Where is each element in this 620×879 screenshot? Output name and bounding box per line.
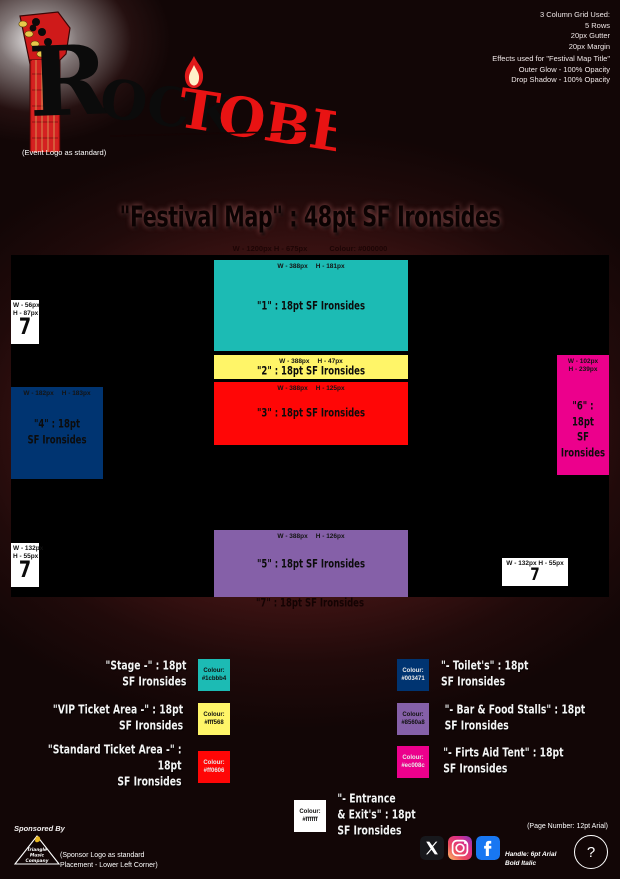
map-dimensions-note: W - 1200px H - 675px Colour: #000000: [0, 244, 620, 253]
legend-toilets[interactable]: Colour: #003471 "- Toilet's" : 18pt SF I…: [397, 659, 534, 691]
legend-toilets-swatch: Colour: #003471: [397, 659, 429, 691]
legend-first-aid-tent[interactable]: Colour: #ec008c "- Firts Aid Tent" : 18p…: [397, 746, 572, 778]
legend-vip-swatch: Colour: #fff568: [198, 703, 230, 735]
swatch-prefix: Colour:: [402, 754, 423, 762]
block-7-outside-label: "7" : 18pt SF Ironsides: [47, 597, 574, 610]
block-5-dims: W - 388pxH - 126px: [214, 533, 408, 540]
grid-note-line: 20px Margin: [540, 42, 610, 53]
map-dims-colour: Colour: #000000: [329, 244, 387, 253]
svg-text:Triangle: Triangle: [27, 847, 47, 853]
legend-bar-food-stalls[interactable]: Colour: #8560a8 "- Bar & Food Stalls" : …: [397, 703, 595, 735]
block-3-dim-w: W - 388px: [277, 385, 307, 392]
entrance-box-bottom-right[interactable]: W - 132px H - 55px 7: [502, 558, 568, 586]
entrance-dim-w: W - 56px: [13, 302, 37, 310]
grid-note-line: 20px Gutter: [540, 31, 610, 42]
block-1-dim-w: W - 388px: [277, 263, 307, 270]
block-5-dim-h: H - 126px: [316, 533, 345, 540]
legend-stage[interactable]: "Stage -" : 18pt SF Ironsides Colour: #1…: [18, 659, 230, 691]
legend-first-aid-swatch: Colour: #ec008c: [397, 746, 429, 778]
swatch-hex: #ffffff: [302, 816, 317, 824]
swatch-hex: #1cbbb4: [202, 675, 226, 683]
block-3-label: "3" : 18pt SF Ironsides: [229, 406, 394, 422]
legend-entrance-swatch: Colour: #ffffff: [294, 800, 326, 832]
sponsored-by-label: Sponsored By: [14, 824, 65, 833]
block-6-dim-h: H - 239px: [557, 366, 609, 374]
effect-note-line: Effects used for "Festival Map Title": [492, 54, 610, 65]
facebook-icon[interactable]: [476, 836, 500, 860]
block-1-label: "1" : 18pt SF Ironsides: [229, 299, 394, 315]
x-icon[interactable]: [420, 836, 444, 860]
block-1-dims: W - 388pxH - 181px: [214, 263, 408, 270]
svg-text:TOBER: TOBER: [174, 76, 336, 153]
block-4-toilets[interactable]: W - 182pxH - 183px "4" : 18pt SF Ironsid…: [11, 387, 103, 479]
block-4-label: "4" : 18pt SF Ironsides: [18, 417, 96, 448]
swatch-prefix: Colour:: [203, 667, 224, 675]
block-3-dim-h: H - 125px: [316, 385, 345, 392]
entrance-glyph: 7: [14, 558, 36, 583]
legend-entrance-label: "- Entrance & Exit's" : 18pt SF Ironside…: [337, 792, 415, 839]
effect-note-line: Outer Glow - 100% Opacity: [492, 65, 610, 76]
instagram-icon[interactable]: [448, 836, 472, 860]
map-dims-size: W - 1200px H - 675px: [233, 244, 308, 253]
legend-stage-swatch: Colour: #1cbbb4: [198, 659, 230, 691]
block-3-standard[interactable]: W - 388pxH - 125px "3" : 18pt SF Ironsid…: [214, 382, 408, 445]
triangle-music-company-icon: Triangle Music Company: [12, 833, 62, 869]
block-5-dim-w: W - 388px: [277, 533, 307, 540]
block-2-label: "2" : 18pt SF Ironsides: [229, 364, 394, 380]
legend-toilets-label: "- Toilet's" : 18pt SF Ironsides: [441, 659, 528, 691]
svg-text:Company: Company: [26, 858, 50, 864]
swatch-hex: #003471: [401, 675, 424, 683]
legend-first-aid-label: "- Firts Aid Tent" : 18pt SF Ironsides: [443, 746, 563, 778]
legend-entrance-exits[interactable]: Colour: #ffffff "- Entrance & Exit's" : …: [294, 795, 421, 837]
handle-note: Handle: 6pt Arial Bold Italic: [505, 850, 556, 869]
page-number-badge[interactable]: ?: [574, 835, 608, 869]
legend-stage-label: "Stage -" : 18pt SF Ironsides: [106, 659, 187, 691]
legend-standard-swatch: Colour: #ff0606: [198, 751, 230, 783]
swatch-hex: #ff0606: [204, 767, 225, 775]
swatch-prefix: Colour:: [203, 711, 224, 719]
legend-bar-food-swatch: Colour: #8560a8: [397, 703, 429, 735]
swatch-hex: #fff568: [204, 719, 223, 727]
block-5-bar-food[interactable]: W - 388pxH - 126px "5" : 18pt SF Ironsid…: [214, 530, 408, 597]
entrance-dim-w: W - 132px: [13, 545, 37, 553]
legend-standard-ticket-area[interactable]: "Standard Ticket Area -" : 18pt SF Irons…: [18, 746, 230, 788]
entrance-box-bottom-left[interactable]: W - 132px H - 55px 7: [11, 543, 39, 587]
swatch-hex: #ec008c: [401, 762, 424, 770]
block-5-label: "5" : 18pt SF Ironsides: [229, 557, 394, 573]
block-6-dim-w: W - 102px: [557, 358, 609, 366]
legend-bar-food-label: "- Bar & Food Stalls" : 18pt SF Ironside…: [445, 703, 586, 735]
swatch-hex: #8560a8: [401, 719, 424, 727]
swatch-prefix: Colour:: [203, 759, 224, 767]
block-1-dim-h: H - 181px: [316, 263, 345, 270]
sponsor-placement-note: (Sponsor Logo as standard Placement - Lo…: [60, 851, 158, 871]
block-4-dim-w: W - 182px: [23, 390, 53, 397]
logo-caption: (Event Logo as standard): [22, 148, 106, 157]
grid-notes: 3 Column Grid Used: 5 Rows 20px Gutter 2…: [540, 10, 610, 53]
block-4-dim-h: H - 183px: [62, 390, 91, 397]
swatch-prefix: Colour:: [299, 808, 320, 816]
flame-icon: [185, 56, 203, 88]
block-4-dims: W - 182pxH - 183px: [11, 390, 103, 397]
festival-map-canvas: W - 388pxH - 181px "1" : 18pt SF Ironsid…: [11, 255, 609, 597]
entrance-glyph: 7: [509, 565, 562, 585]
rocktober-logo-graphic: R OCK TOBER: [6, 8, 336, 153]
sponsor-logo: Triangle Music Company: [12, 833, 62, 874]
swatch-prefix: Colour:: [402, 667, 423, 675]
legend-vip-label: "VIP Ticket Area -" : 18pt SF Ironsides: [53, 703, 183, 735]
legend-vip-ticket-area[interactable]: "VIP Ticket Area -" : 18pt SF Ironsides …: [18, 703, 230, 735]
block-6-dims: W - 102px H - 239px: [557, 358, 609, 375]
block-6-label: "6" : 18pt SF Ironsides: [561, 399, 605, 461]
effect-notes: Effects used for "Festival Map Title" Ou…: [492, 54, 610, 86]
svg-text:Music: Music: [30, 853, 45, 859]
poster-canvas: R OCK TOBER (Event Logo as standard) 3 C…: [0, 0, 620, 879]
festival-map-title: "Festival Map" : 48pt SF Ironsides: [43, 200, 576, 233]
block-2-vip[interactable]: W - 388pxH - 47px "2" : 18pt SF Ironside…: [214, 355, 408, 379]
page-number-note: (Page Number: 12pt Arial): [527, 823, 608, 830]
swatch-prefix: Colour:: [402, 711, 423, 719]
effect-note-line: Drop Shadow - 100% Opacity: [492, 75, 610, 86]
social-icons: [420, 836, 500, 860]
entrance-glyph: 7: [14, 315, 36, 340]
block-6-first-aid[interactable]: W - 102px H - 239px "6" : 18pt SF Ironsi…: [557, 355, 609, 475]
entrance-box-top-left[interactable]: W - 56px H - 87px 7: [11, 300, 39, 344]
event-logo: R OCK TOBER: [6, 8, 336, 148]
grid-note-line: 3 Column Grid Used:: [540, 10, 610, 21]
legend-standard-label: "Standard Ticket Area -" : 18pt SF Irons…: [28, 743, 181, 790]
block-3-dims: W - 388pxH - 125px: [214, 385, 408, 392]
grid-note-line: 5 Rows: [540, 21, 610, 32]
block-1-stage[interactable]: W - 388pxH - 181px "1" : 18pt SF Ironsid…: [214, 260, 408, 351]
